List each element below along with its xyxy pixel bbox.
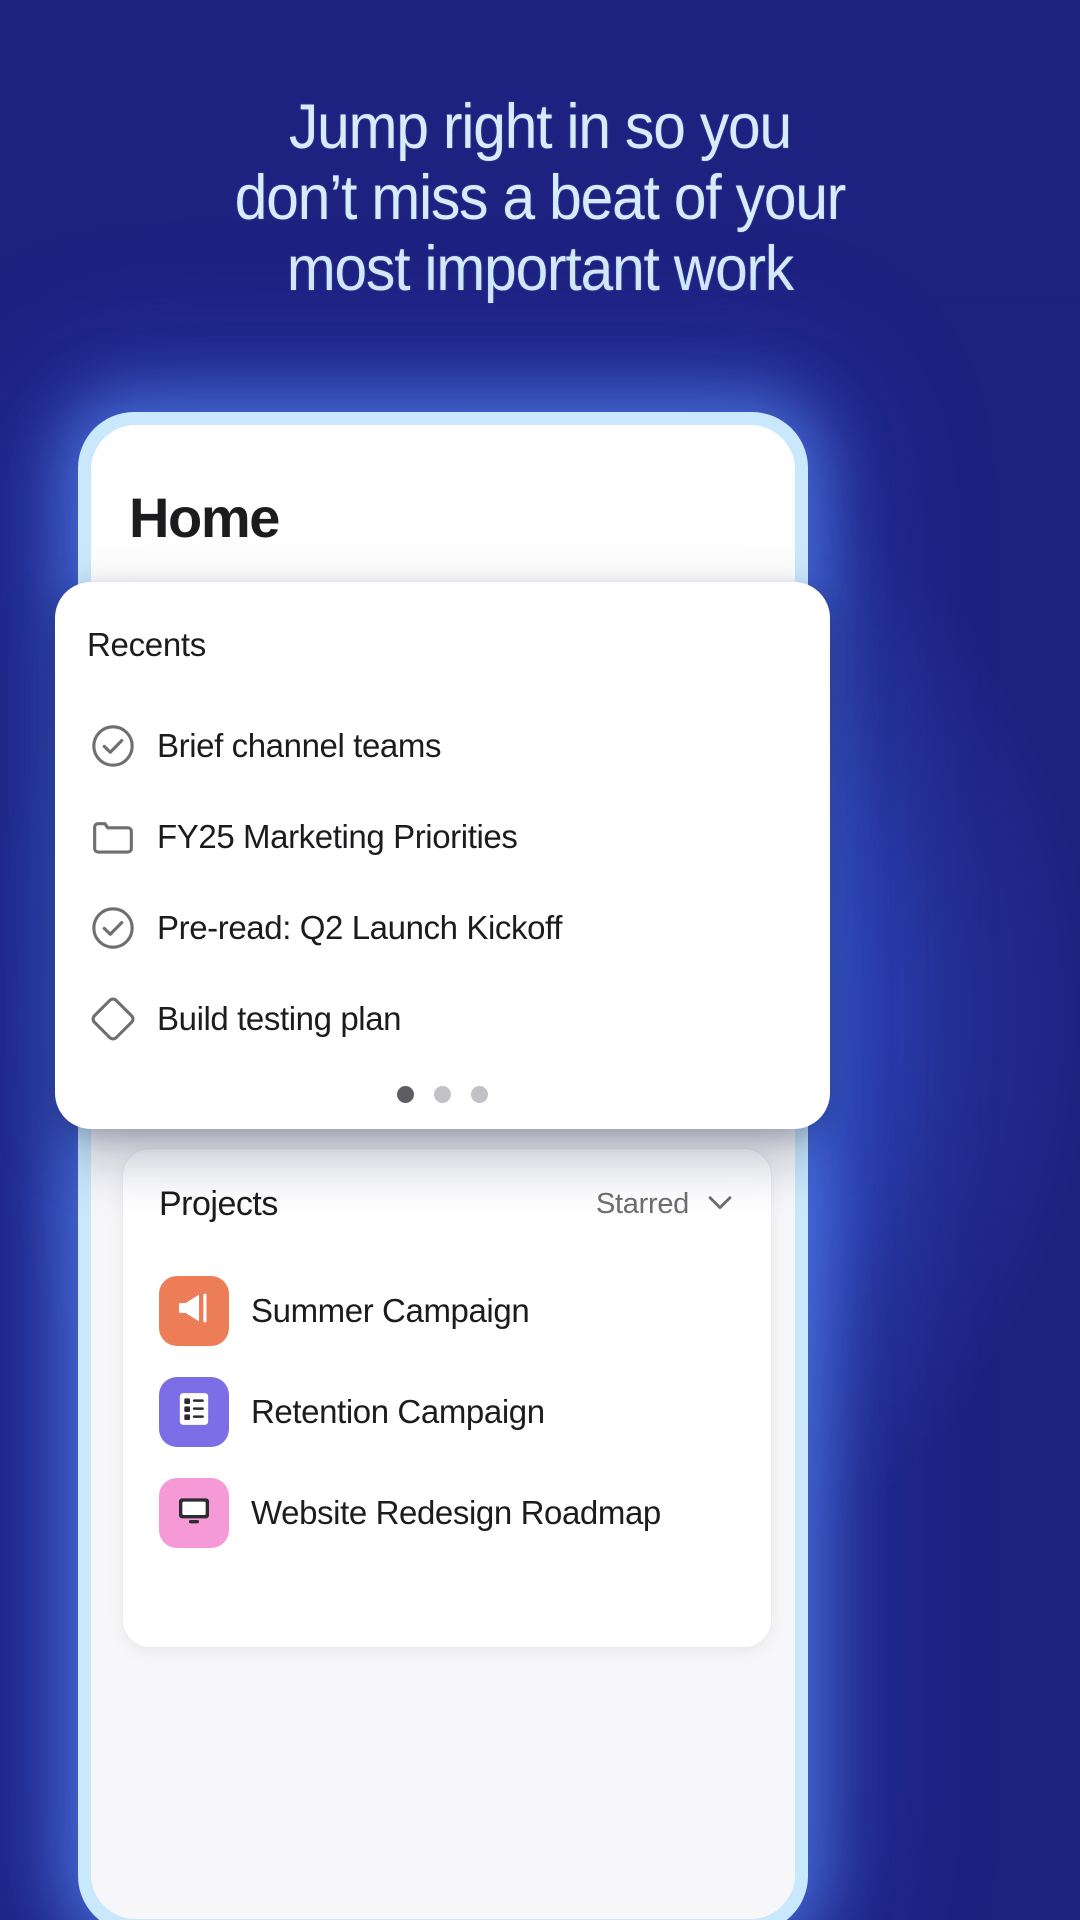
recents-list: Brief channel teams FY25 Marketing Prior…	[55, 700, 830, 1064]
headline-line-2: don’t miss a beat of your	[38, 167, 1042, 230]
recents-list-item[interactable]: FY25 Marketing Priorities	[55, 791, 830, 882]
project-label: Summer Campaign	[251, 1292, 529, 1330]
project-icon-tile	[159, 1377, 229, 1447]
pagination-dot[interactable]	[397, 1086, 414, 1103]
pagination-dot[interactable]	[434, 1086, 451, 1103]
recents-item-label: FY25 Marketing Priorities	[157, 818, 517, 856]
checklist-icon	[174, 1389, 214, 1434]
headline-line-1: Jump right in so you	[38, 96, 1042, 159]
project-icon-tile	[159, 1276, 229, 1346]
recents-list-item[interactable]: Brief channel teams	[55, 700, 830, 791]
projects-list: Summer Campaign Retention Campaign	[123, 1260, 771, 1563]
check-circle-icon	[87, 902, 139, 954]
megaphone-icon	[174, 1288, 214, 1333]
headline-line-3: most important work	[38, 238, 1042, 301]
recents-title: Recents	[55, 626, 830, 664]
project-row[interactable]: Website Redesign Roadmap	[123, 1462, 771, 1563]
recents-item-label: Pre-read: Q2 Launch Kickoff	[157, 909, 562, 947]
recents-card: Recents Brief channel teams FY25 Marketi…	[55, 582, 830, 1129]
project-row[interactable]: Summer Campaign	[123, 1260, 771, 1361]
projects-filter-dropdown[interactable]: Starred	[596, 1185, 737, 1224]
pagination-dot[interactable]	[471, 1086, 488, 1103]
projects-filter-label: Starred	[596, 1188, 689, 1221]
folder-icon	[87, 811, 139, 863]
project-label: Website Redesign Roadmap	[251, 1494, 661, 1532]
recents-item-label: Brief channel teams	[157, 727, 441, 765]
recents-list-item[interactable]: Pre-read: Q2 Launch Kickoff	[55, 882, 830, 973]
project-label: Retention Campaign	[251, 1393, 545, 1431]
page-headline: Jump right in so you don’t miss a beat o…	[38, 96, 1042, 309]
recents-pagination[interactable]	[55, 1086, 830, 1103]
monitor-icon	[174, 1490, 214, 1535]
page-title: Home	[129, 485, 795, 550]
check-circle-icon	[87, 720, 139, 772]
recents-list-item[interactable]: Build testing plan	[55, 973, 830, 1064]
projects-header: Projects Starred	[123, 1185, 771, 1224]
chevron-down-icon	[703, 1185, 737, 1224]
diamond-milestone-icon	[87, 993, 139, 1045]
projects-card: Projects Starred Summer Campaign	[122, 1148, 772, 1648]
recents-item-label: Build testing plan	[157, 1000, 401, 1038]
app-header: Home	[91, 425, 795, 593]
projects-title: Projects	[159, 1185, 278, 1224]
project-row[interactable]: Retention Campaign	[123, 1361, 771, 1462]
project-icon-tile	[159, 1478, 229, 1548]
